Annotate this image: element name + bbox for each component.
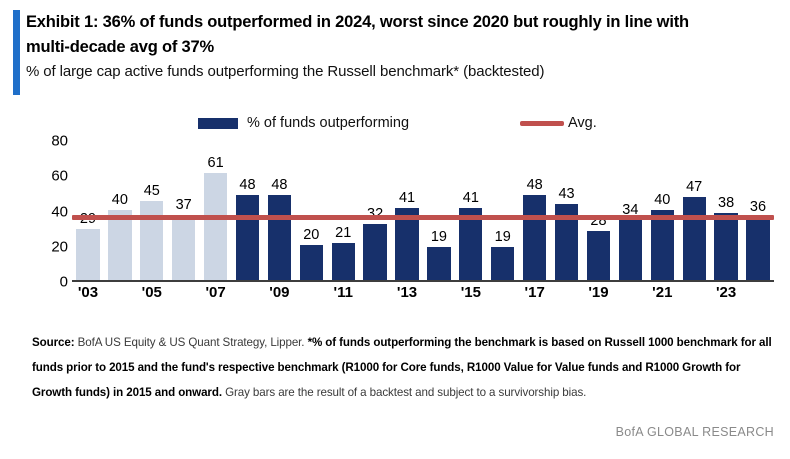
x-axis-tick-17: '17 bbox=[525, 284, 545, 301]
bar-2023 bbox=[714, 213, 737, 280]
bar-slot: 47 bbox=[678, 137, 710, 280]
bar-slot: 43 bbox=[551, 137, 583, 280]
bar-2009 bbox=[268, 195, 291, 280]
exhibit-header: Exhibit 1: 36% of funds outperformed in … bbox=[0, 0, 790, 88]
bar-value-label-2016: 19 bbox=[495, 229, 511, 245]
bar-slot: 45 bbox=[136, 137, 168, 280]
bar-2017 bbox=[523, 195, 546, 280]
y-axis-tick-20: 20 bbox=[16, 238, 68, 255]
legend-label-avg: Avg. bbox=[568, 115, 597, 131]
x-axis-tick-15: '15 bbox=[461, 284, 481, 301]
chart: % of funds outperforming Avg. 020406080 … bbox=[0, 112, 790, 317]
bar-slot: 48 bbox=[232, 137, 264, 280]
bar-2004 bbox=[108, 210, 131, 281]
source-detail-light-1: BofA US Equity & US Quant Strategy, Lipp… bbox=[74, 336, 307, 349]
bar-value-label-2022: 47 bbox=[686, 179, 702, 195]
bar-2014 bbox=[427, 247, 450, 280]
legend-bar-swatch-icon bbox=[198, 118, 238, 129]
bar-slot: 48 bbox=[519, 137, 551, 280]
bar-value-label-2005: 45 bbox=[144, 183, 160, 199]
y-axis-tick-80: 80 bbox=[16, 133, 68, 150]
bar-series: 2940453761484820213241194119484328344047… bbox=[72, 137, 774, 280]
y-axis-tick-40: 40 bbox=[16, 203, 68, 220]
bar-value-label-2008: 48 bbox=[239, 177, 255, 193]
bar-2021 bbox=[651, 210, 674, 281]
legend-item-avg: Avg. bbox=[520, 112, 597, 134]
bar-value-label-2006: 37 bbox=[176, 197, 192, 213]
x-axis-tick-23: '23 bbox=[716, 284, 736, 301]
bar-2020 bbox=[619, 220, 642, 280]
bar-2006 bbox=[172, 215, 195, 280]
accent-bar bbox=[13, 10, 20, 95]
x-axis-tick-03: '03 bbox=[78, 284, 98, 301]
bar-slot: 32 bbox=[359, 137, 391, 280]
bar-value-label-2024: 36 bbox=[750, 199, 766, 215]
source-detail-light-2: Gray bars are the result of a backtest a… bbox=[222, 386, 586, 399]
bar-2007 bbox=[204, 173, 227, 281]
bar-value-label-2011: 21 bbox=[335, 225, 351, 241]
bar-slot: 34 bbox=[614, 137, 646, 280]
x-axis-tick-05: '05 bbox=[142, 284, 162, 301]
bar-slot: 38 bbox=[710, 137, 742, 280]
bar-slot: 19 bbox=[487, 137, 519, 280]
x-axis-ticks: '03'05'07'09'11'13'15'17'19'21'23 bbox=[72, 284, 774, 308]
bar-value-label-2021: 40 bbox=[654, 192, 670, 208]
bar-2005 bbox=[140, 201, 163, 280]
bar-2012 bbox=[363, 224, 386, 280]
legend-item-funds-outperforming: % of funds outperforming bbox=[198, 112, 409, 134]
bar-value-label-2017: 48 bbox=[527, 177, 543, 193]
bar-slot: 48 bbox=[263, 137, 295, 280]
bar-2011 bbox=[332, 243, 355, 280]
x-axis-tick-09: '09 bbox=[269, 284, 289, 301]
y-axis-tick-0: 0 bbox=[16, 274, 68, 291]
bar-slot: 20 bbox=[295, 137, 327, 280]
legend-label-funds-outperforming: % of funds outperforming bbox=[247, 115, 409, 131]
bar-value-label-2013: 41 bbox=[399, 190, 415, 206]
bar-slot: 61 bbox=[200, 137, 232, 280]
chart-legend: % of funds outperforming Avg. bbox=[0, 112, 790, 134]
research-watermark: BofA GLOBAL RESEARCH bbox=[616, 425, 774, 439]
page-subtitle: % of large cap active funds outperformin… bbox=[26, 62, 776, 82]
bar-slot: 37 bbox=[168, 137, 200, 280]
bar-slot: 21 bbox=[327, 137, 359, 280]
bar-2016 bbox=[491, 247, 514, 280]
bar-value-label-2023: 38 bbox=[718, 195, 734, 211]
bar-value-label-2010: 20 bbox=[303, 227, 319, 243]
bar-2024 bbox=[746, 217, 769, 280]
bar-value-label-2014: 19 bbox=[431, 229, 447, 245]
bar-slot: 40 bbox=[646, 137, 678, 280]
bar-value-label-2015: 41 bbox=[463, 190, 479, 206]
bar-2003 bbox=[76, 229, 99, 280]
x-axis-tick-11: '11 bbox=[334, 284, 353, 301]
x-axis-tick-07: '07 bbox=[205, 284, 225, 301]
bar-value-label-2009: 48 bbox=[271, 177, 287, 193]
bar-value-label-2018: 43 bbox=[558, 186, 574, 202]
average-line bbox=[72, 215, 774, 220]
y-axis-tick-60: 60 bbox=[16, 168, 68, 185]
bar-2019 bbox=[587, 231, 610, 280]
x-axis-tick-13: '13 bbox=[397, 284, 417, 301]
bar-2022 bbox=[683, 197, 706, 280]
bar-value-label-2004: 40 bbox=[112, 192, 128, 208]
source-text: Source: BofA US Equity & US Quant Strate… bbox=[32, 330, 772, 405]
bar-slot: 29 bbox=[72, 137, 104, 280]
bar-slot: 36 bbox=[742, 137, 774, 280]
chart-footnote: Source: BofA US Equity & US Quant Strate… bbox=[0, 330, 790, 405]
bar-slot: 40 bbox=[104, 137, 136, 280]
bar-value-label-2007: 61 bbox=[208, 155, 224, 171]
x-axis-line bbox=[72, 280, 774, 282]
bar-2008 bbox=[236, 195, 259, 280]
plot-area: 020406080 294045376148482021324119411948… bbox=[72, 137, 774, 282]
bar-slot: 19 bbox=[423, 137, 455, 280]
x-axis-tick-21: '21 bbox=[652, 284, 672, 301]
bar-2010 bbox=[300, 245, 323, 280]
bar-slot: 28 bbox=[583, 137, 615, 280]
page-title: Exhibit 1: 36% of funds outperformed in … bbox=[26, 10, 726, 60]
x-axis-tick-19: '19 bbox=[588, 284, 608, 301]
bar-slot: 41 bbox=[455, 137, 487, 280]
source-label: Source: bbox=[32, 336, 74, 349]
legend-line-swatch-icon bbox=[520, 121, 564, 126]
bar-slot: 41 bbox=[391, 137, 423, 280]
